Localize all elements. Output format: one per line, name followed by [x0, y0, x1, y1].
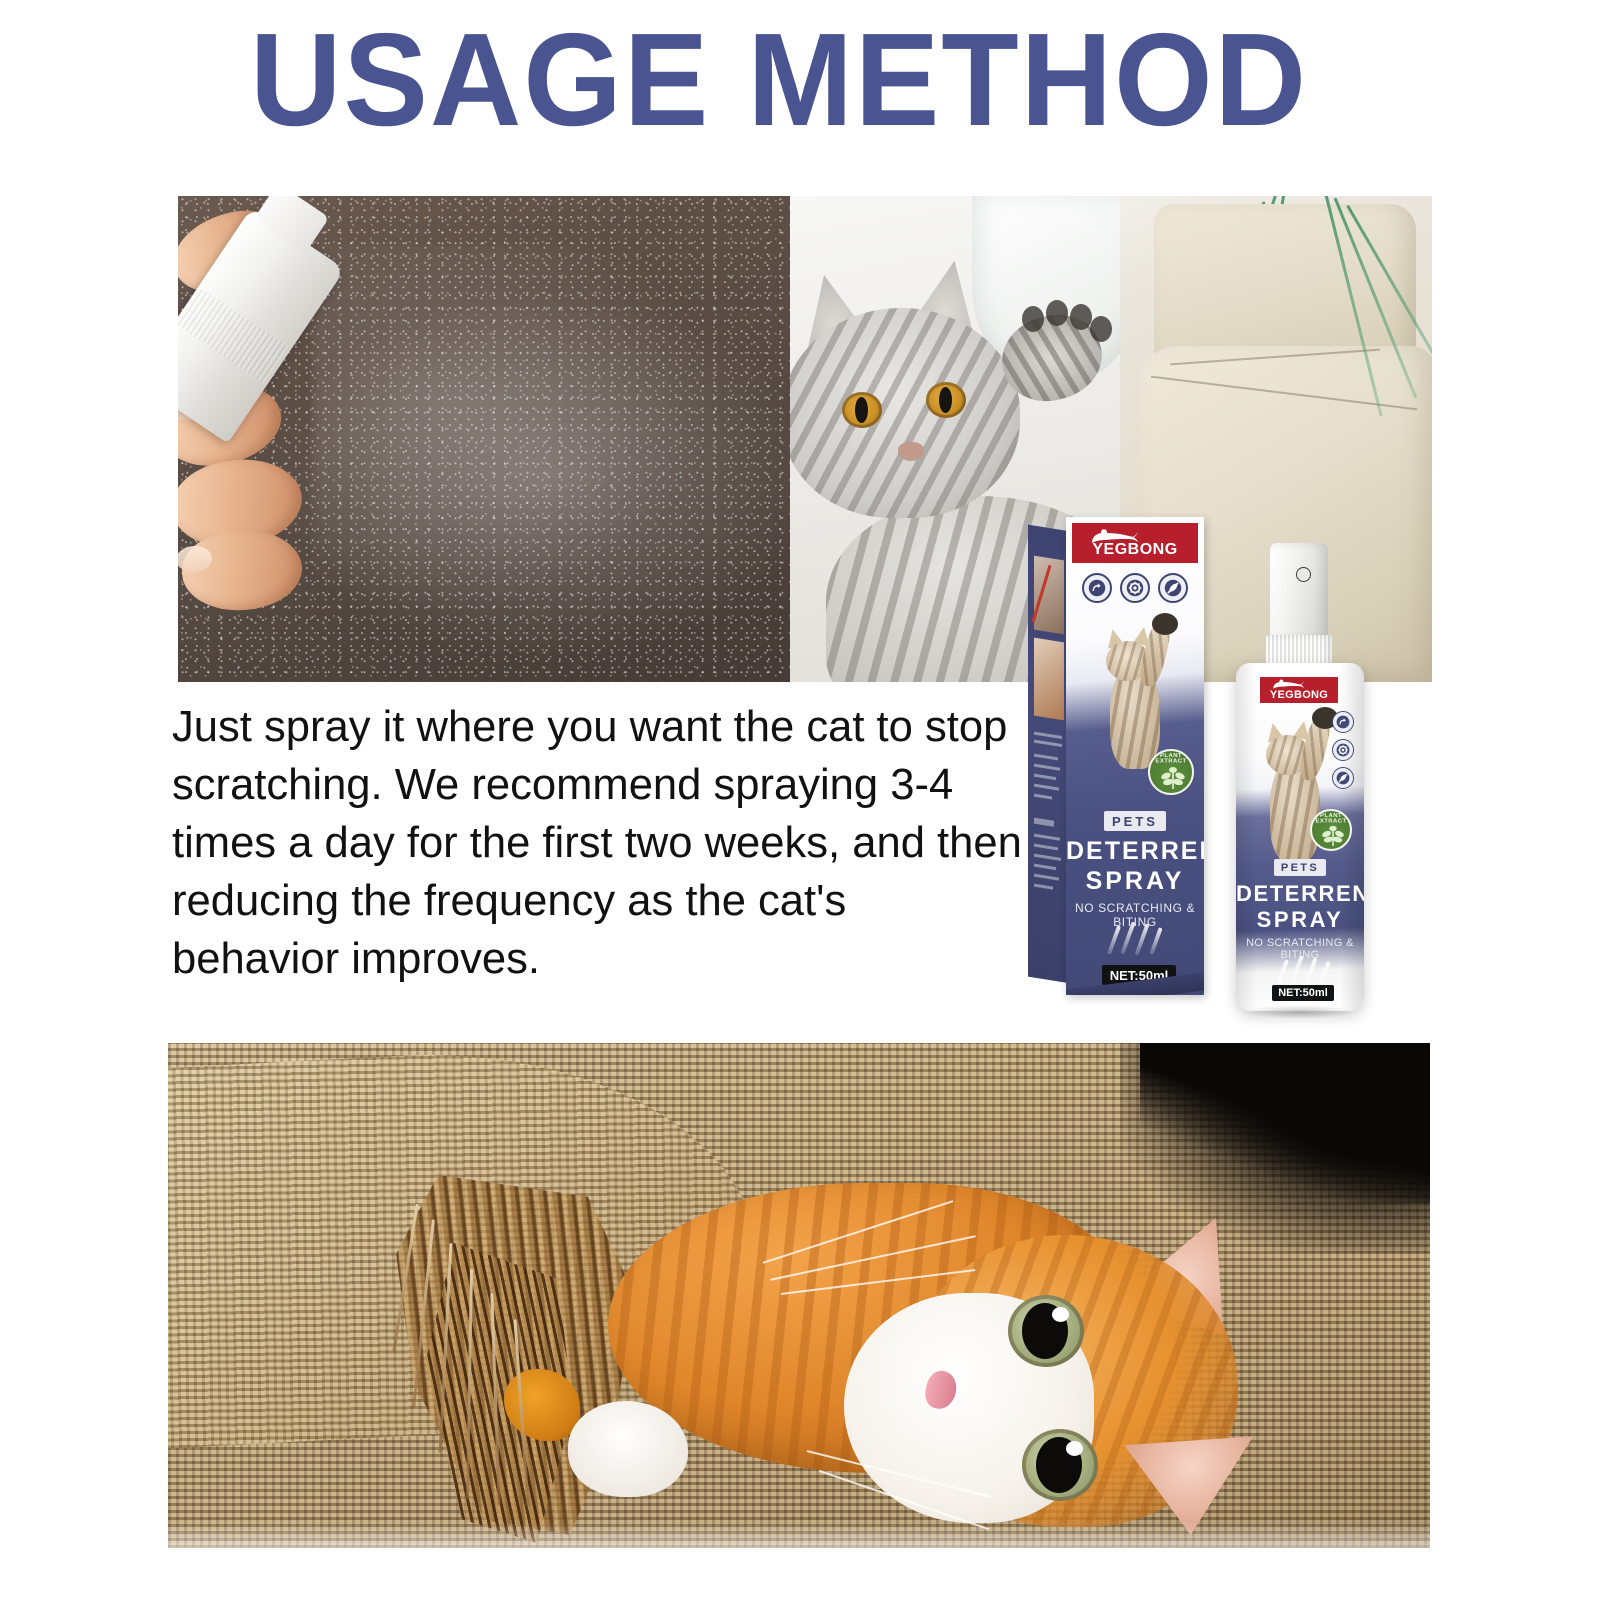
- product-name-line1: DETERRENT: [1236, 881, 1364, 907]
- cat-toe-bean: [1090, 316, 1112, 342]
- feature-badge-column: [1332, 711, 1354, 789]
- kitten-photo-on-box: [1092, 613, 1196, 773]
- cat-toe-bean: [1070, 304, 1092, 330]
- kitten-paw: [1152, 613, 1178, 635]
- brand-name: YEGBONG: [1270, 689, 1328, 701]
- product-shot: YEGBONG: [1018, 505, 1438, 1025]
- usage-instructions-text: Just spray it where you want the cat to …: [172, 698, 1023, 988]
- box-side-text-line: [1034, 732, 1062, 739]
- net-volume-label: NET:50ml: [1102, 965, 1176, 985]
- ginger-cat: [608, 1173, 1328, 1548]
- spray-bottle: YEGBONG: [1230, 543, 1370, 1013]
- photo-bottom-fade: [168, 1522, 1430, 1548]
- spray-cap: [1270, 543, 1328, 639]
- brand-logo-band: YEGBONG: [1072, 523, 1198, 563]
- infographic-page: USAGE METHOD: [0, 0, 1600, 1600]
- claw-mark: [1120, 921, 1135, 954]
- photo-spray-application: [178, 196, 790, 682]
- box-side-text-line: [1034, 754, 1058, 761]
- cat-eye: [1022, 1429, 1098, 1501]
- pet-safe-badge-icon: [1082, 573, 1112, 603]
- bottle-label: YEGBONG: [1236, 663, 1364, 1011]
- cat-nose: [898, 442, 924, 461]
- box-side-text-line: [1034, 774, 1056, 780]
- anti-bacteria-badge-icon: [1332, 739, 1354, 761]
- box-side-text-line: [1034, 794, 1052, 800]
- claw-mark: [1288, 955, 1303, 988]
- claw-mark: [1107, 925, 1121, 955]
- box-side-text-line: [1034, 834, 1060, 841]
- box-side-photo: [1034, 638, 1064, 721]
- net-volume-label: NET:50ml: [1272, 985, 1334, 1001]
- cat-toe-bean: [1046, 300, 1068, 326]
- brand-logo-band: YEGBONG: [1260, 677, 1338, 703]
- box-side-text-line: [1034, 884, 1053, 890]
- claw-mark: [1149, 927, 1162, 955]
- pet-safe-badge-icon: [1332, 711, 1354, 733]
- claw-scratch-icon: [1276, 955, 1330, 987]
- pets-label: PETS: [1274, 859, 1326, 876]
- cat-eye: [926, 382, 966, 418]
- photo-cat-on-scratched-sofa: [168, 1043, 1430, 1548]
- box-side-text-line: [1034, 844, 1058, 851]
- box-side-text-line: [1034, 818, 1054, 827]
- box-side-text-line: [1034, 864, 1056, 870]
- page-title: USAGE METHOD: [250, 14, 1354, 146]
- plant-icon: [1318, 822, 1348, 846]
- claw-mark: [1134, 923, 1149, 955]
- spray-nozzle-icon: [1296, 567, 1311, 582]
- bottle-shadow: [1244, 1005, 1356, 1019]
- no-chemicals-leaf-badge-icon: [1332, 767, 1354, 789]
- box-side-text-line: [1034, 854, 1061, 861]
- box-side-photo: [1034, 556, 1064, 635]
- box-side-text-line: [1034, 874, 1059, 881]
- product-name-line1: DETERRENT: [1066, 837, 1204, 866]
- anti-bacteria-badge-icon: [1120, 573, 1150, 603]
- cat-paw: [568, 1401, 688, 1497]
- product-box: YEGBONG: [1028, 517, 1204, 1007]
- cat-eye: [842, 392, 882, 428]
- cat-toe-bean: [1022, 306, 1044, 332]
- product-name-line2: SPRAY: [1236, 907, 1364, 933]
- spray-mist-cloud: [313, 245, 741, 634]
- brand-name: YEGBONG: [1092, 541, 1177, 559]
- box-side-text-line: [1034, 784, 1059, 791]
- no-chemicals-leaf-badge-icon: [1158, 573, 1188, 603]
- plant-extract-seal: PLANT EXTRACT: [1148, 749, 1194, 795]
- product-name-line2: SPRAY: [1066, 867, 1204, 896]
- hand-holding-bottle: [178, 210, 356, 640]
- feature-badge-row: [1082, 573, 1190, 603]
- cat-head: [790, 308, 1020, 518]
- pets-label: PETS: [1104, 811, 1166, 831]
- cat-eye: [1008, 1295, 1084, 1367]
- plant-extract-seal: PLANT EXTRACT: [1310, 809, 1352, 851]
- box-side-text-line: [1034, 740, 1062, 747]
- box-side-panel: [1028, 525, 1068, 983]
- box-front-panel: YEGBONG: [1066, 517, 1204, 995]
- box-side-text-line: [1034, 764, 1060, 771]
- plant-icon: [1157, 763, 1189, 789]
- claw-scratch-icon: [1108, 921, 1172, 959]
